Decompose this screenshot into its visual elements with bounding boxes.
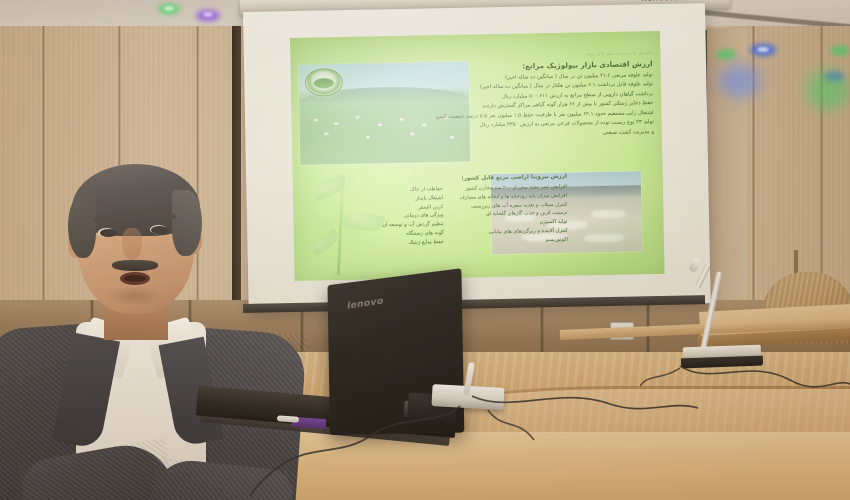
mustache	[112, 260, 158, 271]
presentation-slide: پتانسیل ها و فرصت های قابل توجه ارزش اقت…	[290, 31, 665, 281]
ceiling-spot-green-icon	[830, 46, 850, 55]
lenovo-logo: lenovo	[347, 296, 384, 312]
conference-room-photo: Reflecta	[0, 0, 850, 500]
hair-side	[68, 194, 96, 258]
slide-heading: ارزش اقتصادی بازار بیولوژیک مراتع:	[438, 59, 653, 72]
ceiling-spot-core	[164, 6, 174, 11]
screen-brand-label: Reflecta	[641, 0, 678, 3]
slide-bullet: حفظ منابع ژنتیک	[304, 238, 444, 249]
mouth-opening	[124, 275, 146, 282]
eye	[151, 226, 168, 234]
cables	[470, 370, 700, 430]
chin-shadow	[106, 286, 164, 306]
wall-light-glow	[718, 64, 762, 98]
ceiling-spot-core	[203, 12, 213, 17]
wall-light-glow	[806, 70, 850, 110]
slide-bullet-list-left: حفاظت از خاک اشتغال پایدار کربن السفر وی…	[303, 185, 444, 249]
ceiling-spot-green-icon	[716, 50, 736, 59]
logo-inner-shape	[314, 78, 334, 88]
slide-bullet-list: تولید علوفه مرتعی ۲۱.۶ میلیون تن در سال …	[435, 71, 654, 141]
ceiling-spot-core	[757, 47, 769, 52]
nose	[122, 228, 142, 260]
hair-side	[172, 190, 202, 256]
eye	[100, 229, 117, 237]
